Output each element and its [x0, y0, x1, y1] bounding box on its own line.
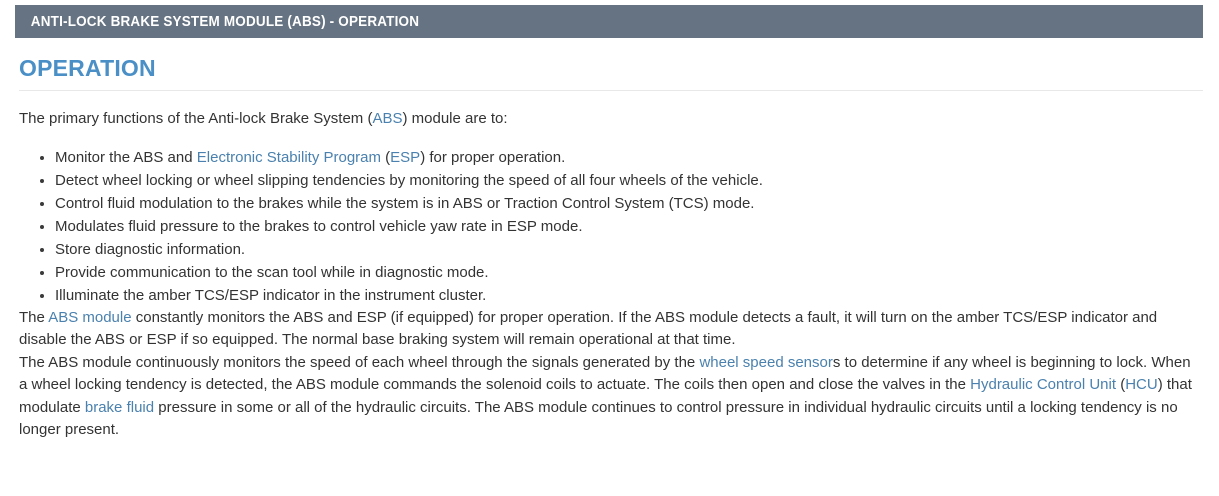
list-item: Illuminate the amber TCS/ESP indicator i… [55, 284, 1203, 307]
list-item: Provide communication to the scan tool w… [55, 261, 1203, 284]
list-item: Store diagnostic information. [55, 238, 1203, 261]
list-item: Detect wheel locking or wheel slipping t… [55, 169, 1203, 192]
list-item-text-pre: Illuminate the amber TCS/ESP indicator i… [55, 287, 486, 304]
document-title-bar: ANTI-LOCK BRAKE SYSTEM MODULE (ABS) - OP… [15, 5, 1203, 38]
list-item: Monitor the ABS and Electronic Stability… [55, 146, 1203, 169]
para3-text-part3: ( [1116, 376, 1125, 393]
list-item-text-pre: Control fluid modulation to the brakes w… [55, 195, 754, 212]
list-item-text-mid: ( [381, 149, 390, 166]
list-item-text-pre: Provide communication to the scan tool w… [55, 264, 489, 281]
paragraph-abs-module-monitoring: The ABS module constantly monitors the A… [19, 307, 1203, 352]
link-hydraulic-control-unit[interactable]: Hydraulic Control Unit [970, 376, 1116, 393]
list-item-text-post: ) for proper operation. [420, 149, 565, 166]
paragraph-wheel-speed-control: The ABS module continuously monitors the… [19, 352, 1203, 442]
link-hcu[interactable]: HCU [1125, 376, 1158, 393]
list-item-text-pre: Monitor the ABS and [55, 149, 197, 166]
intro-paragraph: The primary functions of the Anti-lock B… [19, 91, 1203, 131]
para3-text-part1: The ABS module continuously monitors the… [19, 354, 699, 371]
para2-text-part1: The [19, 309, 48, 326]
list-item-text-pre: Detect wheel locking or wheel slipping t… [55, 172, 763, 189]
document-content: OPERATION The primary functions of the A… [19, 56, 1203, 442]
intro-text-part1: The primary functions of the Anti-lock B… [19, 110, 372, 127]
link-esp[interactable]: ESP [390, 149, 420, 166]
functions-list: Monitor the ABS and Electronic Stability… [19, 146, 1203, 307]
page-title: OPERATION [19, 56, 1203, 90]
link-electronic-stability-program[interactable]: Electronic Stability Program [197, 149, 381, 166]
list-item-text-pre: Store diagnostic information. [55, 241, 245, 258]
list-item: Control fluid modulation to the brakes w… [55, 192, 1203, 215]
para3-text-part5: pressure in some or all of the hydraulic… [19, 399, 1178, 439]
link-brake-fluid[interactable]: brake fluid [85, 399, 154, 416]
link-abs[interactable]: ABS [372, 110, 402, 127]
intro-text-part2: ) module are to: [402, 110, 507, 127]
para2-text-part2: constantly monitors the ABS and ESP (if … [19, 309, 1157, 349]
document-title-text: ANTI-LOCK BRAKE SYSTEM MODULE (ABS) - OP… [15, 14, 419, 30]
link-abs-module[interactable]: ABS module [48, 309, 131, 326]
list-item: Modulates fluid pressure to the brakes t… [55, 215, 1203, 238]
document-page: ANTI-LOCK BRAKE SYSTEM MODULE (ABS) - OP… [0, 0, 1219, 496]
list-item-text-pre: Modulates fluid pressure to the brakes t… [55, 218, 583, 235]
link-wheel-speed-sensor[interactable]: wheel speed sensor [699, 354, 832, 371]
